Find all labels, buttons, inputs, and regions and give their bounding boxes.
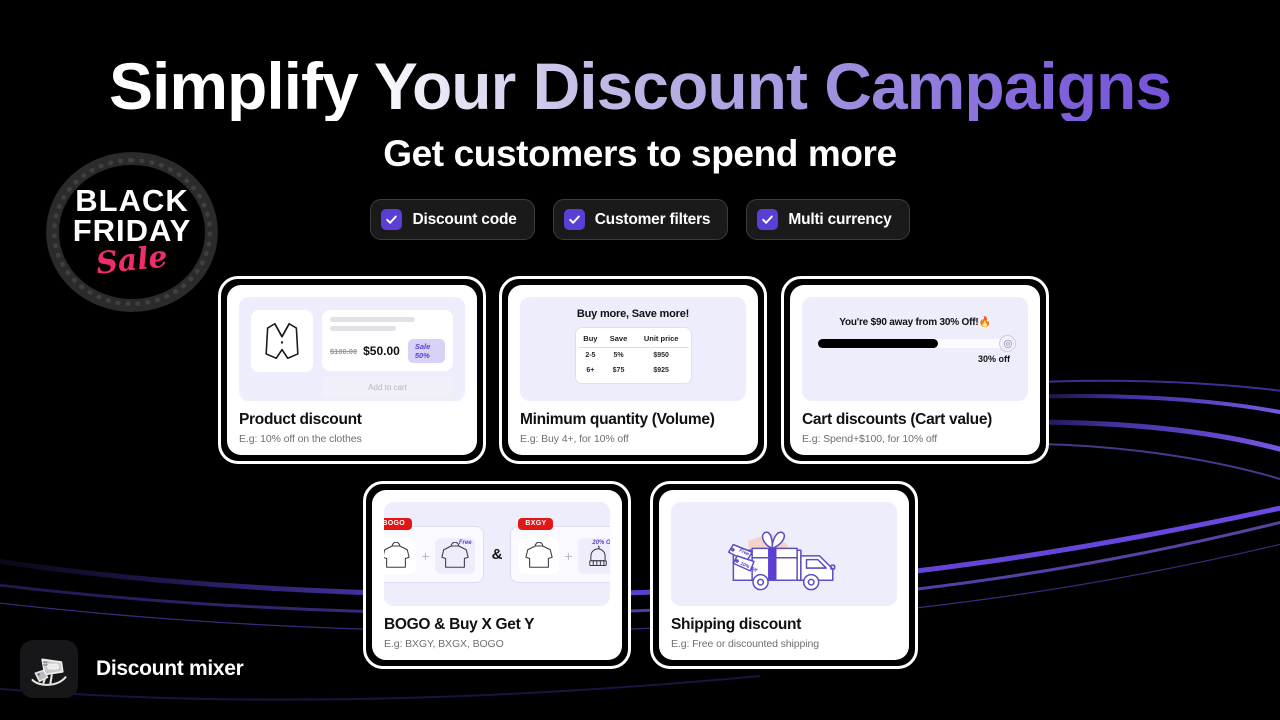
sweater-icon-free: Free (435, 538, 475, 574)
price-original: $100.00 (330, 347, 357, 356)
bxgy-tag: BXGY (518, 518, 553, 530)
col-header-save: Save (603, 332, 634, 347)
card-body: You're $90 away from 30% Off!🔥 30% off C… (790, 285, 1040, 455)
free-label: Free (459, 540, 472, 546)
shipping-preview: Free 10% Off (671, 502, 897, 606)
sale-badge: Sale 50% (408, 339, 445, 363)
card-body: BOGO + Free (372, 490, 622, 660)
ampersand-separator: & (492, 546, 503, 563)
table-header-row: Buy Save Unit price (578, 332, 689, 347)
bogo-preview: BOGO + Free (384, 502, 610, 606)
card-body: $100.00 $50.00 Sale 50% Add to cart Prod… (227, 285, 477, 455)
check-icon[interactable] (564, 209, 585, 230)
col-header-buy: Buy (578, 332, 604, 347)
bxgy-group: BXGY + 20% Off (510, 526, 610, 583)
chip-label: Discount code (412, 211, 516, 229)
cart-progress-message: You're $90 away from 30% Off!🔥 (802, 297, 1028, 328)
chip-customer-filters[interactable]: Customer filters (553, 199, 729, 240)
placeholder-line (330, 317, 415, 322)
app-branding[interactable]: Discount mixer (20, 640, 244, 698)
cell-buy: 6+ (578, 363, 604, 378)
product-info: $100.00 $50.00 Sale 50% (322, 310, 453, 371)
bogo-tag: BOGO (384, 518, 412, 530)
vest-icon (251, 310, 313, 372)
slide-canvas: Simplify Your Discount Campaigns Get cus… (0, 0, 1280, 720)
card-shipping-discount[interactable]: Free 10% Off Shipping discount E.g: Free… (650, 481, 918, 669)
percent-off-label: 20% Off (592, 540, 610, 546)
price-row: $100.00 $50.00 Sale 50% (330, 339, 445, 363)
card-title: Shipping discount (671, 616, 897, 634)
card-subtitle: E.g: 10% off on the clothes (239, 433, 465, 445)
card-body: Free 10% Off Shipping discount E.g: Free… (659, 490, 909, 660)
placeholder-line (330, 326, 396, 331)
fire-icon: 🔥 (978, 317, 990, 328)
plus-icon: + (564, 548, 572, 564)
cell-save: $75 (603, 363, 634, 378)
delivery-truck-gift-icon: Free 10% Off (709, 507, 859, 601)
cell-buy: 2-5 (578, 347, 604, 363)
card-title: BOGO & Buy X Get Y (384, 616, 610, 634)
progress-bar-fill (818, 339, 938, 348)
card-title: Cart discounts (Cart value) (802, 411, 1028, 429)
plus-icon: + (421, 548, 429, 564)
card-body: Buy more, Save more! Buy Save Unit price (508, 285, 758, 455)
target-icon[interactable] (999, 335, 1016, 352)
page-title: Simplify Your Discount Campaigns (0, 52, 1280, 121)
cell-unit-price: $950 (634, 347, 689, 363)
cell-unit-price: $925 (634, 363, 689, 378)
promo-heading: Buy more, Save more! (520, 297, 746, 320)
card-bogo[interactable]: BOGO + Free (363, 481, 631, 669)
card-product-discount[interactable]: $100.00 $50.00 Sale 50% Add to cart Prod… (218, 276, 486, 464)
check-icon[interactable] (381, 209, 402, 230)
chip-discount-code[interactable]: Discount code (370, 199, 534, 240)
card-title: Minimum quantity (Volume) (520, 411, 746, 429)
chip-label: Multi currency (788, 211, 891, 229)
price-discounted: $50.00 (363, 344, 400, 358)
sweater-icon (519, 538, 559, 574)
card-subtitle: E.g: Free or discounted shipping (671, 638, 897, 650)
cart-progress-preview: You're $90 away from 30% Off!🔥 30% off (802, 297, 1028, 401)
add-to-cart-button[interactable]: Add to cart (322, 377, 453, 398)
progress-bar-track[interactable] (818, 339, 1012, 348)
bogo-group: BOGO + Free (384, 526, 484, 583)
cart-progress-message-text: You're $90 away from 30% Off! (839, 317, 978, 328)
card-subtitle: E.g: Buy 4+, for 10% off (520, 433, 746, 445)
app-name: Discount mixer (96, 657, 244, 681)
card-subtitle: E.g: Spend+$100, for 10% off (802, 433, 1028, 445)
chip-label: Customer filters (595, 211, 711, 229)
table-row: 6+ $75 $925 (578, 363, 689, 378)
feature-chip-group: Discount code Customer filters Multi cur… (0, 199, 1280, 240)
volume-pricing-table: Buy Save Unit price 2-5 5% $950 (575, 327, 692, 384)
mixer-icon (20, 640, 78, 698)
table-row: 2-5 5% $950 (578, 347, 689, 363)
cell-save: 5% (603, 347, 634, 363)
col-header-unit-price: Unit price (634, 332, 689, 347)
card-cart-discounts[interactable]: You're $90 away from 30% Off!🔥 30% off C… (781, 276, 1049, 464)
card-title: Product discount (239, 411, 465, 429)
volume-preview: Buy more, Save more! Buy Save Unit price (520, 297, 746, 401)
check-icon[interactable] (757, 209, 778, 230)
sweater-icon (384, 538, 416, 574)
card-subtitle: E.g: BXGY, BXGX, BOGO (384, 638, 610, 650)
discount-goal-label: 30% off (802, 354, 1010, 364)
chip-multi-currency[interactable]: Multi currency (746, 199, 909, 240)
stamp-line-sale: Sale (95, 239, 170, 281)
beanie-icon: 20% Off (578, 538, 610, 574)
product-preview: $100.00 $50.00 Sale 50% Add to cart (239, 297, 465, 401)
card-minimum-quantity[interactable]: Buy more, Save more! Buy Save Unit price (499, 276, 767, 464)
